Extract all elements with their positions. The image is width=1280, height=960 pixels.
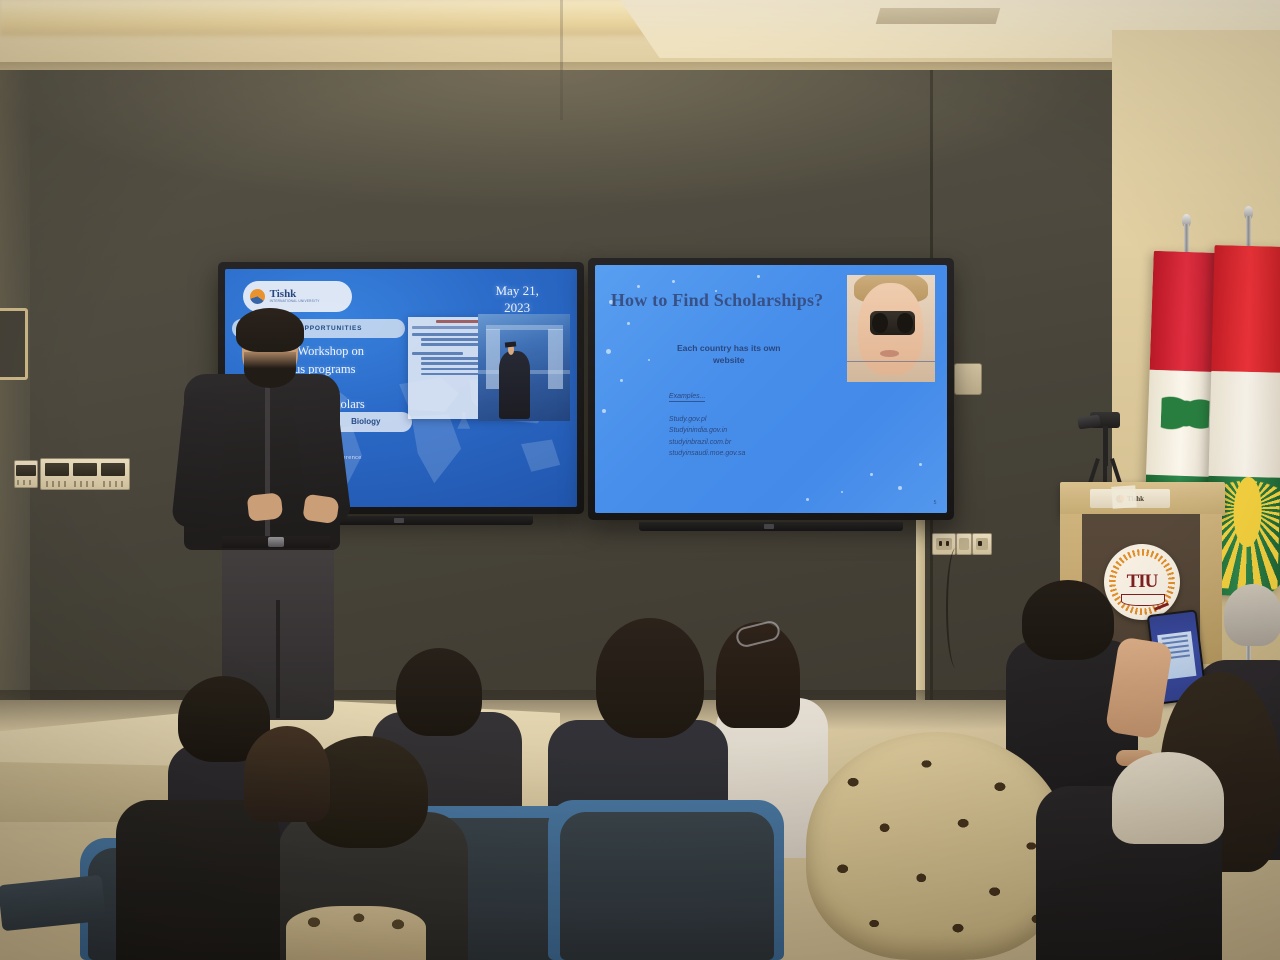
link-item: Study.gov.pl: [669, 414, 746, 426]
right-display[interactable]: How to Find Scholarships? Each country h…: [588, 258, 954, 520]
scholarship-links-list: Study.gov.pl Studyinindia.gov.in studyin…: [669, 414, 746, 460]
chair-center-right[interactable]: [560, 812, 774, 960]
tishk-logo: Tishk INTERNATIONAL UNIVERSITY: [243, 281, 352, 312]
single-switch[interactable]: [14, 460, 38, 488]
ceiling-vent: [876, 8, 1001, 24]
iraq-flag-script: [1160, 383, 1209, 444]
link-item: Studyinindia.gov.in: [669, 425, 746, 437]
wall-ambient-glow: [0, 70, 1130, 250]
podium-leg-right: [1200, 514, 1222, 664]
tower-bridge-photo: [478, 314, 570, 421]
right-slide: How to Find Scholarships? Each country h…: [595, 265, 947, 513]
presentation-room-photo: Tishk INTERNATIONAL UNIVERSITY May 21, 2…: [0, 0, 1280, 960]
presenter-hair: [236, 308, 304, 352]
left-display-brand-mark: [394, 518, 404, 523]
camera-tripod: [1082, 412, 1128, 484]
presenter-beard: [244, 352, 296, 388]
attendee-hair: [1022, 580, 1114, 660]
presenter-belt-buckle: [268, 537, 284, 547]
attendee-head: [244, 726, 330, 822]
presenter-left-hand: [247, 492, 284, 521]
attendee-patterned-hijab: [286, 906, 426, 960]
attendee-body: [116, 800, 280, 960]
examples-label: Examples...: [669, 393, 706, 402]
tiu-seal-label: TIU: [1127, 571, 1158, 593]
tiu-seal-book-icon: [1121, 594, 1166, 607]
attendee-leopard-hijab: [806, 732, 1068, 960]
wall-frame: [0, 308, 28, 380]
link-item: studyinsaudi.moe.gov.sa: [669, 448, 746, 460]
graduate-figure: [499, 351, 530, 420]
wall-socket-right[interactable]: [972, 533, 992, 555]
link-item: studyinbrazil.com.br: [669, 437, 746, 449]
attendee-light-scarf: [1112, 752, 1224, 844]
slide-page-number: 5: [934, 500, 937, 506]
biology-badge-label: Biology: [351, 417, 380, 426]
cable-conduit: [916, 500, 925, 700]
wall-speaker: [954, 363, 982, 395]
right-slide-subtitle: Each country has its own website: [658, 342, 799, 367]
right-slide-title: How to Find Scholarships?: [611, 290, 824, 311]
light-switch-bank[interactable]: [40, 458, 130, 490]
presenter-right-hand: [302, 494, 339, 524]
slide-date: May 21, 2023: [471, 283, 563, 316]
tiu-seal: TIU: [1104, 544, 1180, 620]
attendee-hair: [396, 648, 482, 736]
tishk-logo-subtitle: INTERNATIONAL UNIVERSITY: [270, 300, 320, 303]
wall-note: [1111, 485, 1136, 509]
right-display-brand-mark: [764, 524, 774, 529]
attendee-hair: [596, 618, 704, 738]
binoculars-icon: [870, 311, 916, 334]
attendee-hair-grey: [1224, 584, 1280, 646]
binoculars-photo: [847, 275, 935, 382]
power-cable: [946, 548, 966, 668]
tishk-logo-mark: [250, 289, 265, 304]
